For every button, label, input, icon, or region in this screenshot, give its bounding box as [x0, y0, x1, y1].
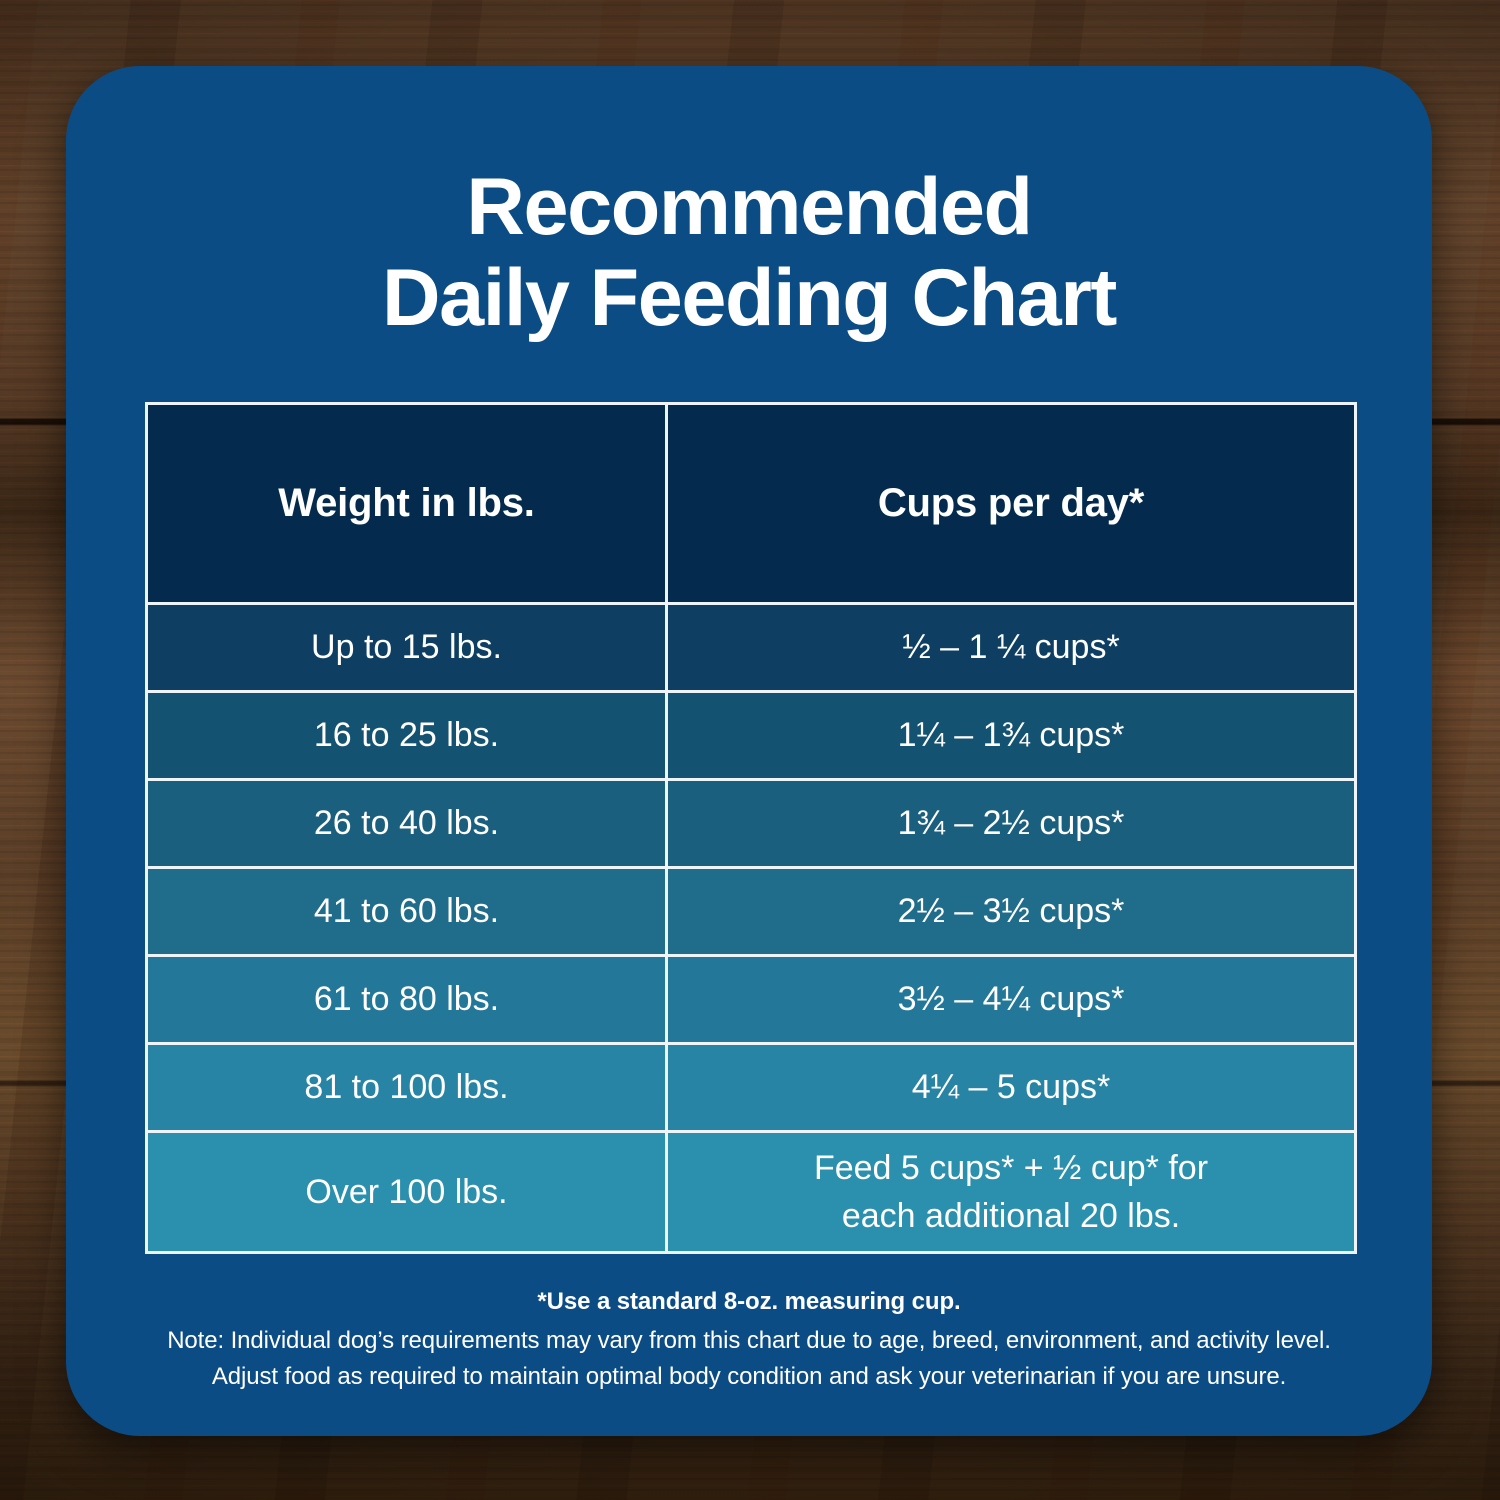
- table-row: Over 100 lbs. Feed 5 cups* + ½ cup* for …: [148, 1133, 1354, 1251]
- cell-weight: 16 to 25 lbs.: [148, 693, 668, 778]
- table-row: 26 to 40 lbs. 1¾ – 2½ cups*: [148, 781, 1354, 869]
- cell-cups: Feed 5 cups* + ½ cup* for each additiona…: [668, 1133, 1354, 1251]
- title-line-1: Recommended: [66, 162, 1432, 253]
- title-line-2: Daily Feeding Chart: [66, 253, 1432, 344]
- footnote-note-line-2: Adjust food as required to maintain opti…: [66, 1359, 1432, 1395]
- cell-weight: Up to 15 lbs.: [148, 605, 668, 690]
- cell-weight: 61 to 80 lbs.: [148, 957, 668, 1042]
- cell-weight: Over 100 lbs.: [148, 1133, 668, 1251]
- cell-cups: 1¼ – 1¾ cups*: [668, 693, 1354, 778]
- table-row: 41 to 60 lbs. 2½ – 3½ cups*: [148, 869, 1354, 957]
- table-row: 81 to 100 lbs. 4¼ – 5 cups*: [148, 1045, 1354, 1133]
- table-row: 16 to 25 lbs. 1¼ – 1¾ cups*: [148, 693, 1354, 781]
- feeding-table: Weight in lbs. Cups per day* Up to 15 lb…: [145, 402, 1357, 1254]
- table-row: 61 to 80 lbs. 3½ – 4¼ cups*: [148, 957, 1354, 1045]
- cell-cups: 3½ – 4¼ cups*: [668, 957, 1354, 1042]
- table-row: Up to 15 lbs. ½ – 1 ¼ cups*: [148, 605, 1354, 693]
- page-title: Recommended Daily Feeding Chart: [66, 162, 1432, 343]
- cell-weight: 81 to 100 lbs.: [148, 1045, 668, 1130]
- footnote-measuring-cup: *Use a standard 8-oz. measuring cup.: [66, 1288, 1432, 1316]
- column-header-weight: Weight in lbs.: [148, 405, 668, 602]
- column-header-cups: Cups per day*: [668, 405, 1354, 602]
- cell-cups-line-1: Feed 5 cups* + ½ cup* for: [814, 1144, 1208, 1192]
- cell-weight: 41 to 60 lbs.: [148, 869, 668, 954]
- table-header-row: Weight in lbs. Cups per day*: [148, 405, 1354, 605]
- cell-cups: ½ – 1 ¼ cups*: [668, 605, 1354, 690]
- cell-cups-line-2: each additional 20 lbs.: [814, 1192, 1208, 1240]
- cell-weight: 26 to 40 lbs.: [148, 781, 668, 866]
- footnote-note-line-1: Note: Individual dog’s requirements may …: [66, 1323, 1432, 1359]
- footer-note: *Use a standard 8-oz. measuring cup. Not…: [66, 1288, 1432, 1396]
- cell-cups: 1¾ – 2½ cups*: [668, 781, 1354, 866]
- cell-cups: 2½ – 3½ cups*: [668, 869, 1354, 954]
- cell-cups: 4¼ – 5 cups*: [668, 1045, 1354, 1130]
- feeding-chart-card: Recommended Daily Feeding Chart Weight i…: [66, 66, 1432, 1436]
